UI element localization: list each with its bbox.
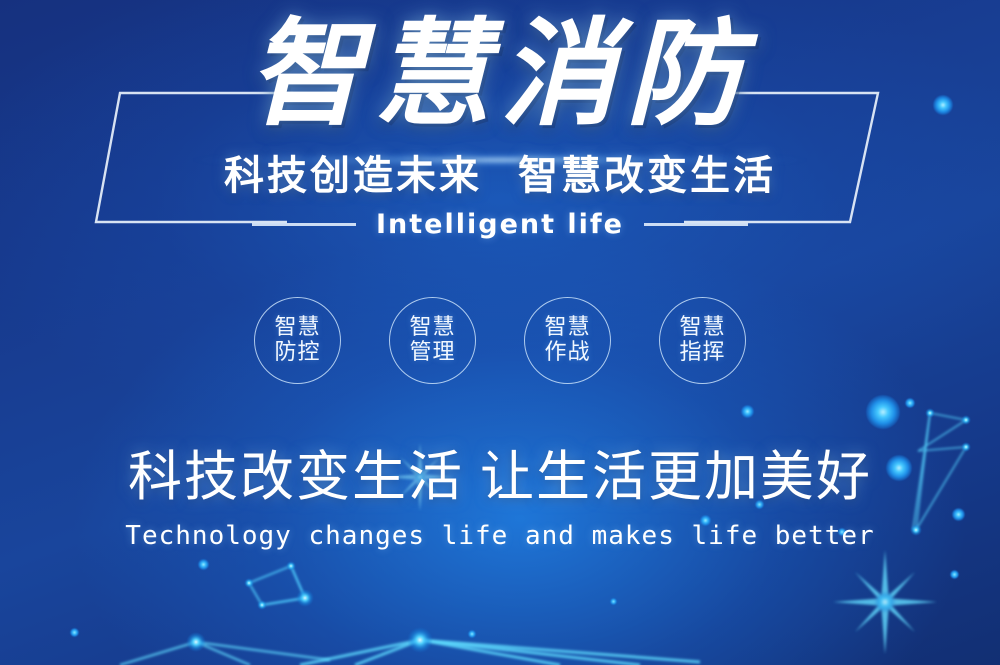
page-title: 智慧消防 bbox=[0, 12, 1000, 137]
sub-title-left: 科技创造未来 bbox=[224, 153, 482, 199]
tagline-cn-right: 让生活更加美好 bbox=[480, 445, 872, 508]
rule-right bbox=[644, 223, 748, 226]
badge-line1: 智慧 bbox=[274, 316, 320, 341]
english-title-row: Intelligent life bbox=[0, 209, 1000, 240]
badge-line1: 智慧 bbox=[679, 316, 725, 341]
sub-title: 科技创造未来智慧改变生活 bbox=[0, 143, 1000, 201]
badge-zhihui[interactable]: 智慧 指挥 bbox=[659, 297, 746, 384]
badge-fangkong[interactable]: 智慧 防控 bbox=[254, 297, 341, 384]
badge-guanli[interactable]: 智慧 管理 bbox=[389, 297, 476, 384]
rule-left bbox=[252, 223, 356, 226]
english-title: Intelligent life bbox=[376, 209, 624, 240]
badge-line2: 防控 bbox=[274, 341, 320, 366]
badge-line2: 作战 bbox=[544, 341, 590, 366]
headline-block: 智慧消防 科技创造未来智慧改变生活 Intelligent life bbox=[0, 12, 1000, 240]
badge-row: 智慧 防控 智慧 管理 智慧 作战 智慧 指挥 bbox=[0, 297, 1000, 384]
poster-root: 智慧消防 科技创造未来智慧改变生活 Intelligent life 智慧 防控… bbox=[0, 0, 1000, 665]
badge-zuozhan[interactable]: 智慧 作战 bbox=[524, 297, 611, 384]
badge-line2: 指挥 bbox=[679, 341, 725, 366]
tagline-block: 科技改变生活让生活更加美好 Technology changes life an… bbox=[0, 432, 1000, 551]
tagline-chinese: 科技改变生活让生活更加美好 bbox=[0, 432, 1000, 511]
badge-line1: 智慧 bbox=[544, 316, 590, 341]
sub-title-right: 智慧改变生活 bbox=[518, 153, 776, 199]
badge-line1: 智慧 bbox=[409, 316, 455, 341]
badge-line2: 管理 bbox=[409, 341, 455, 366]
tagline-cn-left: 科技改变生活 bbox=[128, 445, 464, 508]
tagline-english: Technology changes life and makes life b… bbox=[0, 521, 1000, 551]
